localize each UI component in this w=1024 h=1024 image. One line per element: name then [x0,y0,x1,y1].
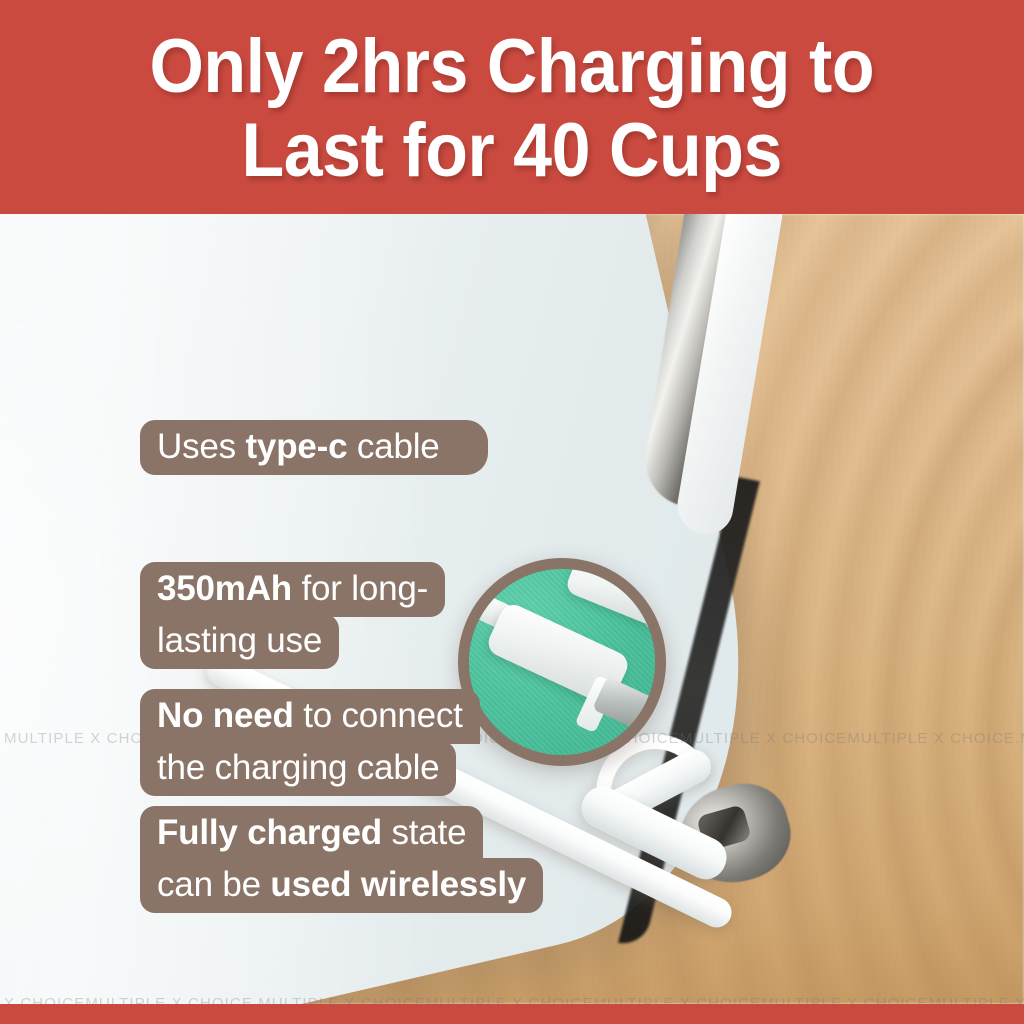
callout-line: can be used wirelessly [140,858,543,913]
infographic-poster: MULTIPLE X CHOICE MULTIPLE X CHOICE. MUL… [0,0,1024,1024]
callout-text-post: to connect [294,696,463,735]
callout-line: lasting use [140,614,339,669]
header-title-line-1: Only 2hrs Charging to [150,30,875,104]
callout-text-bold: No need [157,696,294,735]
callout-text-bold: used wirelessly [270,865,526,904]
callout-line: Uses type-c cable [140,420,488,475]
header-banner: Only 2hrs Charging to Last for 40 Cups [0,0,1024,214]
callout-text-bold: Fully charged [157,813,382,852]
callout-line: the charging cable [140,741,456,796]
callout-text-pre: lasting use [157,621,322,660]
callout-text-post: cable [347,427,439,466]
callout-line: Fully charged state [140,806,483,861]
header-title-line-2: Last for 40 Cups [242,114,782,188]
callout-text-bold: type-c [245,427,347,466]
footer-bar [0,1004,1024,1024]
callout-text-pre: the charging cable [157,748,439,787]
callout-text-pre: can be [157,865,270,904]
callout-text-post: state [382,813,466,852]
callout-text-bold: 350mAh [157,569,292,608]
callout-line: 350mAh for long- [140,562,445,617]
callout-line: No need to connect [140,689,480,744]
callout-text-post: for long- [292,569,428,608]
callout-text-pre: Uses [157,427,245,466]
callout-wireless: Fully charged state can be used wireless… [140,806,543,913]
callout-no-cable: No need to connect the charging cable [140,689,480,796]
callout-type-c: Uses type-c cable [140,420,488,475]
magnifier-inset [458,558,666,766]
callout-capacity: 350mAh for long- lasting use [140,562,445,669]
